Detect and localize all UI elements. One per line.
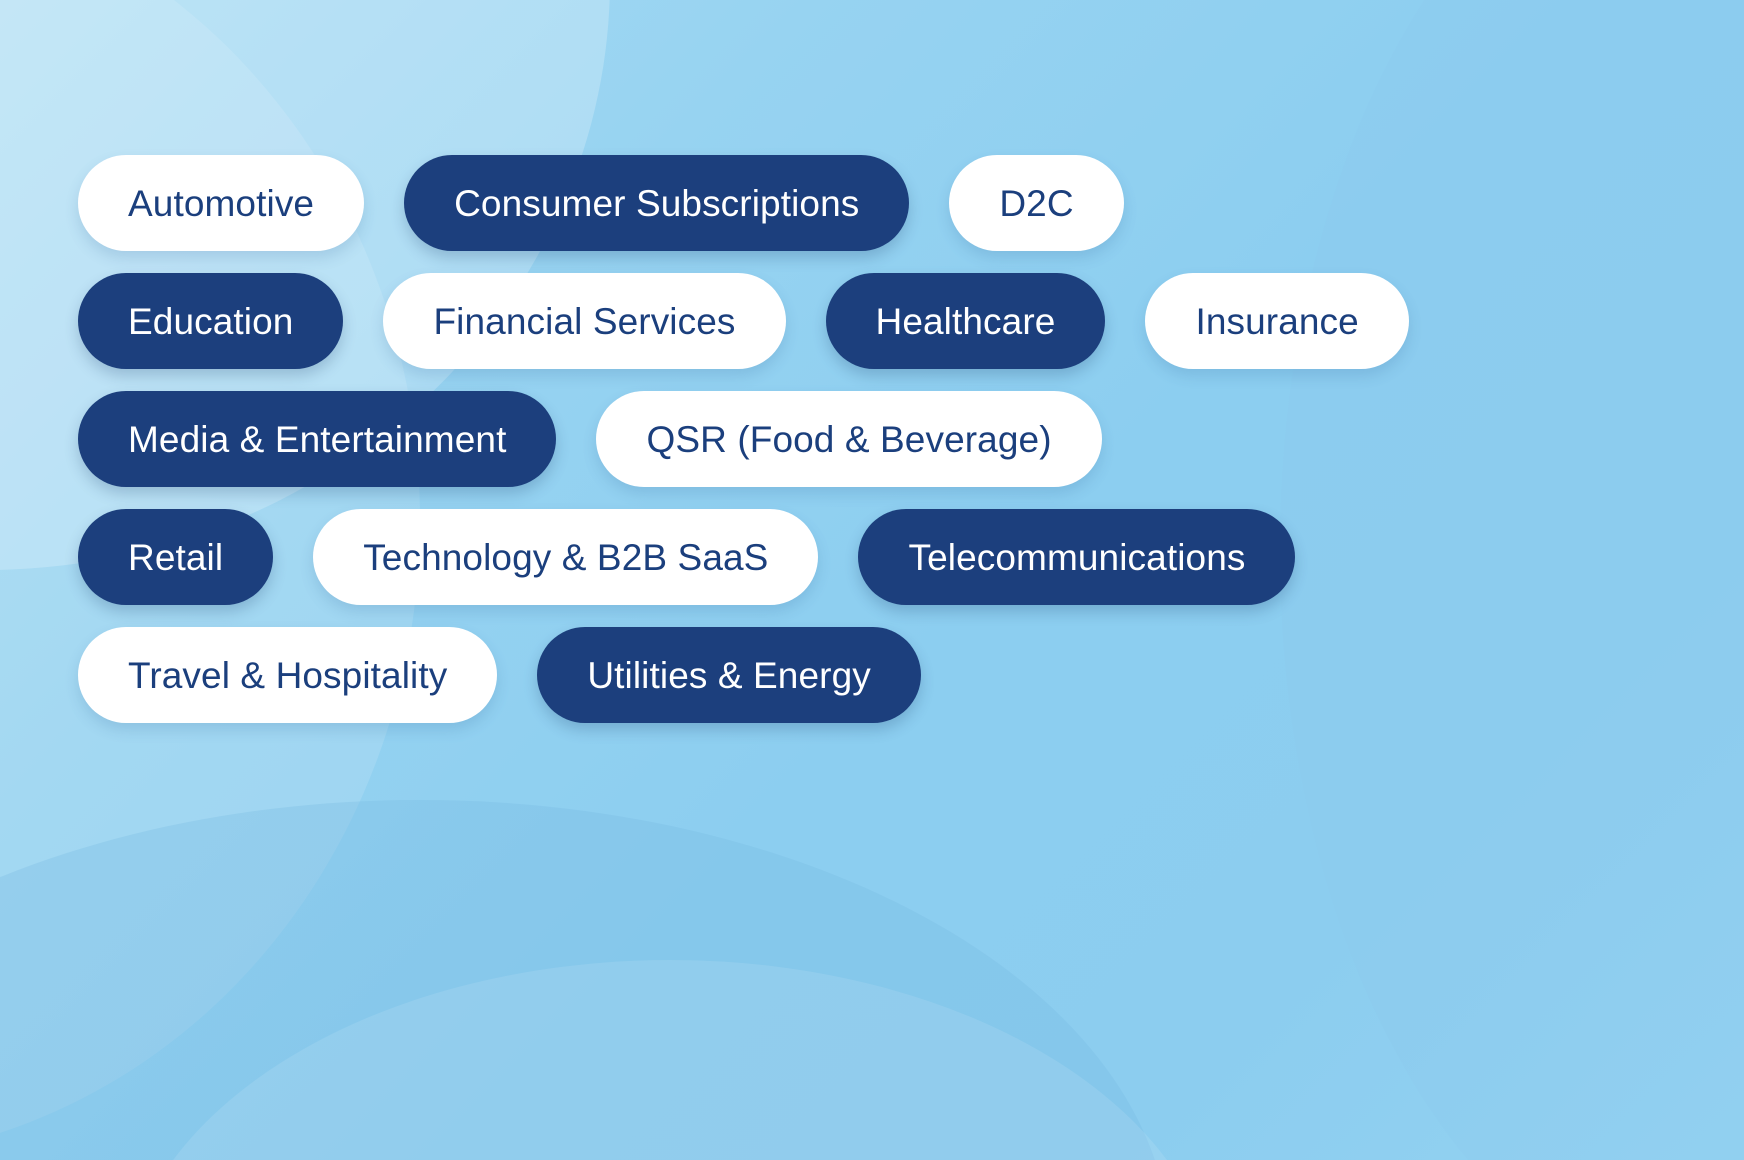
industry-pill-healthcare[interactable]: Healthcare bbox=[826, 273, 1106, 369]
industry-pill-media-entertainment[interactable]: Media & Entertainment bbox=[78, 391, 556, 487]
pill-label: Financial Services bbox=[433, 303, 735, 340]
industry-pill-automotive[interactable]: Automotive bbox=[78, 155, 364, 251]
pill-label: Travel & Hospitality bbox=[128, 657, 447, 694]
industry-pill-qsr-food-beverage[interactable]: QSR (Food & Beverage) bbox=[596, 391, 1101, 487]
industry-pill-utilities-energy[interactable]: Utilities & Energy bbox=[537, 627, 921, 723]
industry-pill-retail[interactable]: Retail bbox=[78, 509, 273, 605]
pill-label: Insurance bbox=[1195, 303, 1358, 340]
pill-label: Automotive bbox=[128, 185, 314, 222]
industry-pill-telecommunications[interactable]: Telecommunications bbox=[858, 509, 1295, 605]
pill-row: Automotive Consumer Subscriptions D2C bbox=[78, 155, 1600, 251]
industry-pill-consumer-subscriptions[interactable]: Consumer Subscriptions bbox=[404, 155, 909, 251]
pill-label: Consumer Subscriptions bbox=[454, 185, 859, 222]
pill-label: Technology & B2B SaaS bbox=[363, 539, 768, 576]
pill-label: Healthcare bbox=[876, 303, 1056, 340]
industry-pill-insurance[interactable]: Insurance bbox=[1145, 273, 1408, 369]
pill-label: QSR (Food & Beverage) bbox=[646, 421, 1051, 458]
industry-pill-education[interactable]: Education bbox=[78, 273, 343, 369]
background-arc-bottom-left bbox=[0, 800, 1170, 1160]
pill-label: Utilities & Energy bbox=[587, 657, 871, 694]
pill-row: Education Financial Services Healthcare … bbox=[78, 273, 1600, 369]
pill-row: Retail Technology & B2B SaaS Telecommuni… bbox=[78, 509, 1600, 605]
pill-label: Retail bbox=[128, 539, 223, 576]
pill-label: D2C bbox=[999, 185, 1073, 222]
pill-label: Education bbox=[128, 303, 293, 340]
pill-label: Media & Entertainment bbox=[128, 421, 506, 458]
pill-row: Travel & Hospitality Utilities & Energy bbox=[78, 627, 1600, 723]
pill-row: Media & Entertainment QSR (Food & Bevera… bbox=[78, 391, 1600, 487]
background-arc-bottom-soft bbox=[120, 960, 1220, 1160]
pill-label: Telecommunications bbox=[908, 539, 1245, 576]
industry-pill-technology-b2b-saas[interactable]: Technology & B2B SaaS bbox=[313, 509, 818, 605]
industry-pill-d2c[interactable]: D2C bbox=[949, 155, 1123, 251]
industry-pill-board: Automotive Consumer Subscriptions D2C Ed… bbox=[0, 0, 1744, 1160]
industry-pill-travel-hospitality[interactable]: Travel & Hospitality bbox=[78, 627, 497, 723]
pill-grid: Automotive Consumer Subscriptions D2C Ed… bbox=[0, 0, 1600, 723]
industry-pill-financial-services[interactable]: Financial Services bbox=[383, 273, 785, 369]
